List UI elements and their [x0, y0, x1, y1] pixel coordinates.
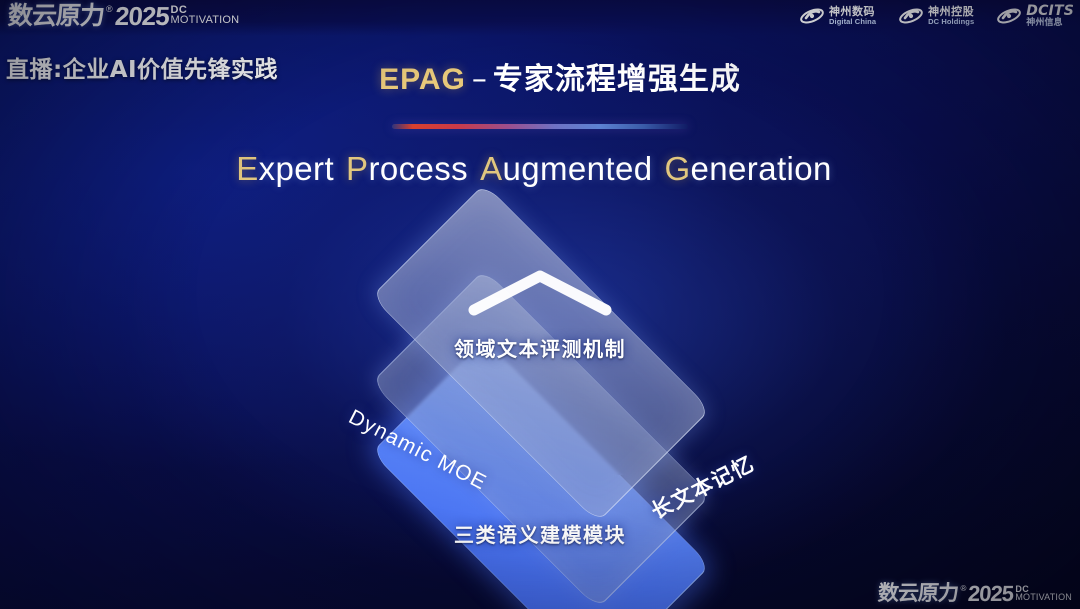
- watermark-dc-motivation: DC MOTIVATION: [1015, 583, 1072, 602]
- footer-watermark-logo: 数云原力 ® 2025 DC MOTIVATION: [878, 583, 1072, 605]
- partner-logo-text: 神州数码 Digital China: [829, 6, 876, 25]
- subtitle-word-augmented: Augmented: [480, 150, 652, 187]
- partner-logo-dcits: DCITS 神州信息: [996, 4, 1074, 28]
- brand-motivation-text: MOTIVATION: [171, 15, 240, 25]
- page-title: EPAG–专家流程增强生成: [0, 54, 1080, 98]
- partner-name-cn: 神州信息: [1026, 19, 1074, 28]
- brand-logo: 数云原力 ® 2025 DC MOTIVATION: [8, 3, 239, 29]
- brand-registered-mark: ®: [106, 3, 113, 14]
- page-subtitle: ExpertProcessAugmentedGeneration: [0, 150, 1080, 188]
- slide-canvas: 数云原力 ® 2025 DC MOTIVATION 直播:企业AI价值先锋实践 …: [0, 0, 1080, 609]
- layer-stack-diagram: 领域文本评测机制 Dynamic MOE 长文本记忆 三类语义建模模块: [294, 228, 786, 568]
- subtitle-word-generation: Generation: [664, 150, 831, 187]
- subtitle-rest: eneration: [691, 150, 832, 187]
- subtitle-initial: E: [236, 150, 258, 187]
- watermark-year: 2025: [968, 583, 1014, 605]
- gradient-divider: [392, 124, 688, 129]
- partner-name-en: DC Holdings: [928, 18, 974, 26]
- partner-name-en: Digital China: [829, 18, 876, 26]
- subtitle-word-expert: Expert: [236, 150, 334, 187]
- partner-logo-dc-holdings: 神州控股 DC Holdings: [898, 5, 974, 27]
- watermark-name-cn: 数云原力: [878, 583, 959, 604]
- subtitle-rest: ugmented: [502, 150, 652, 187]
- subtitle-initial: A: [480, 150, 502, 187]
- swirl-logo-icon: [799, 5, 825, 27]
- brand-dc-motivation: DC MOTIVATION: [171, 3, 240, 25]
- title-chinese: 专家流程增强生成: [493, 62, 741, 97]
- watermark-motivation-text: MOTIVATION: [1015, 593, 1072, 601]
- swirl-logo-icon: [898, 5, 924, 27]
- partner-logo-group: 神州数码 Digital China 神州控股 DC Holdings: [799, 4, 1074, 28]
- subtitle-rest: xpert: [259, 150, 334, 187]
- watermark-registered-mark: ®: [960, 583, 966, 593]
- partner-logo-text: 神州控股 DC Holdings: [928, 6, 974, 25]
- partner-logo-digital-china: 神州数码 Digital China: [799, 5, 876, 27]
- partner-name-en: DCITS: [1026, 4, 1074, 19]
- subtitle-word-process: Process: [346, 150, 468, 187]
- swirl-logo-icon: [996, 5, 1022, 27]
- subtitle-initial: G: [664, 150, 690, 187]
- subtitle-rest: rocess: [368, 150, 468, 187]
- brand-name-cn: 数云原力: [7, 3, 105, 28]
- subtitle-initial: P: [346, 150, 368, 187]
- brand-year: 2025: [114, 3, 170, 29]
- partner-logo-text: DCITS 神州信息: [1026, 4, 1074, 28]
- title-dash: –: [466, 62, 493, 97]
- title-acronym: EPAG: [379, 63, 466, 96]
